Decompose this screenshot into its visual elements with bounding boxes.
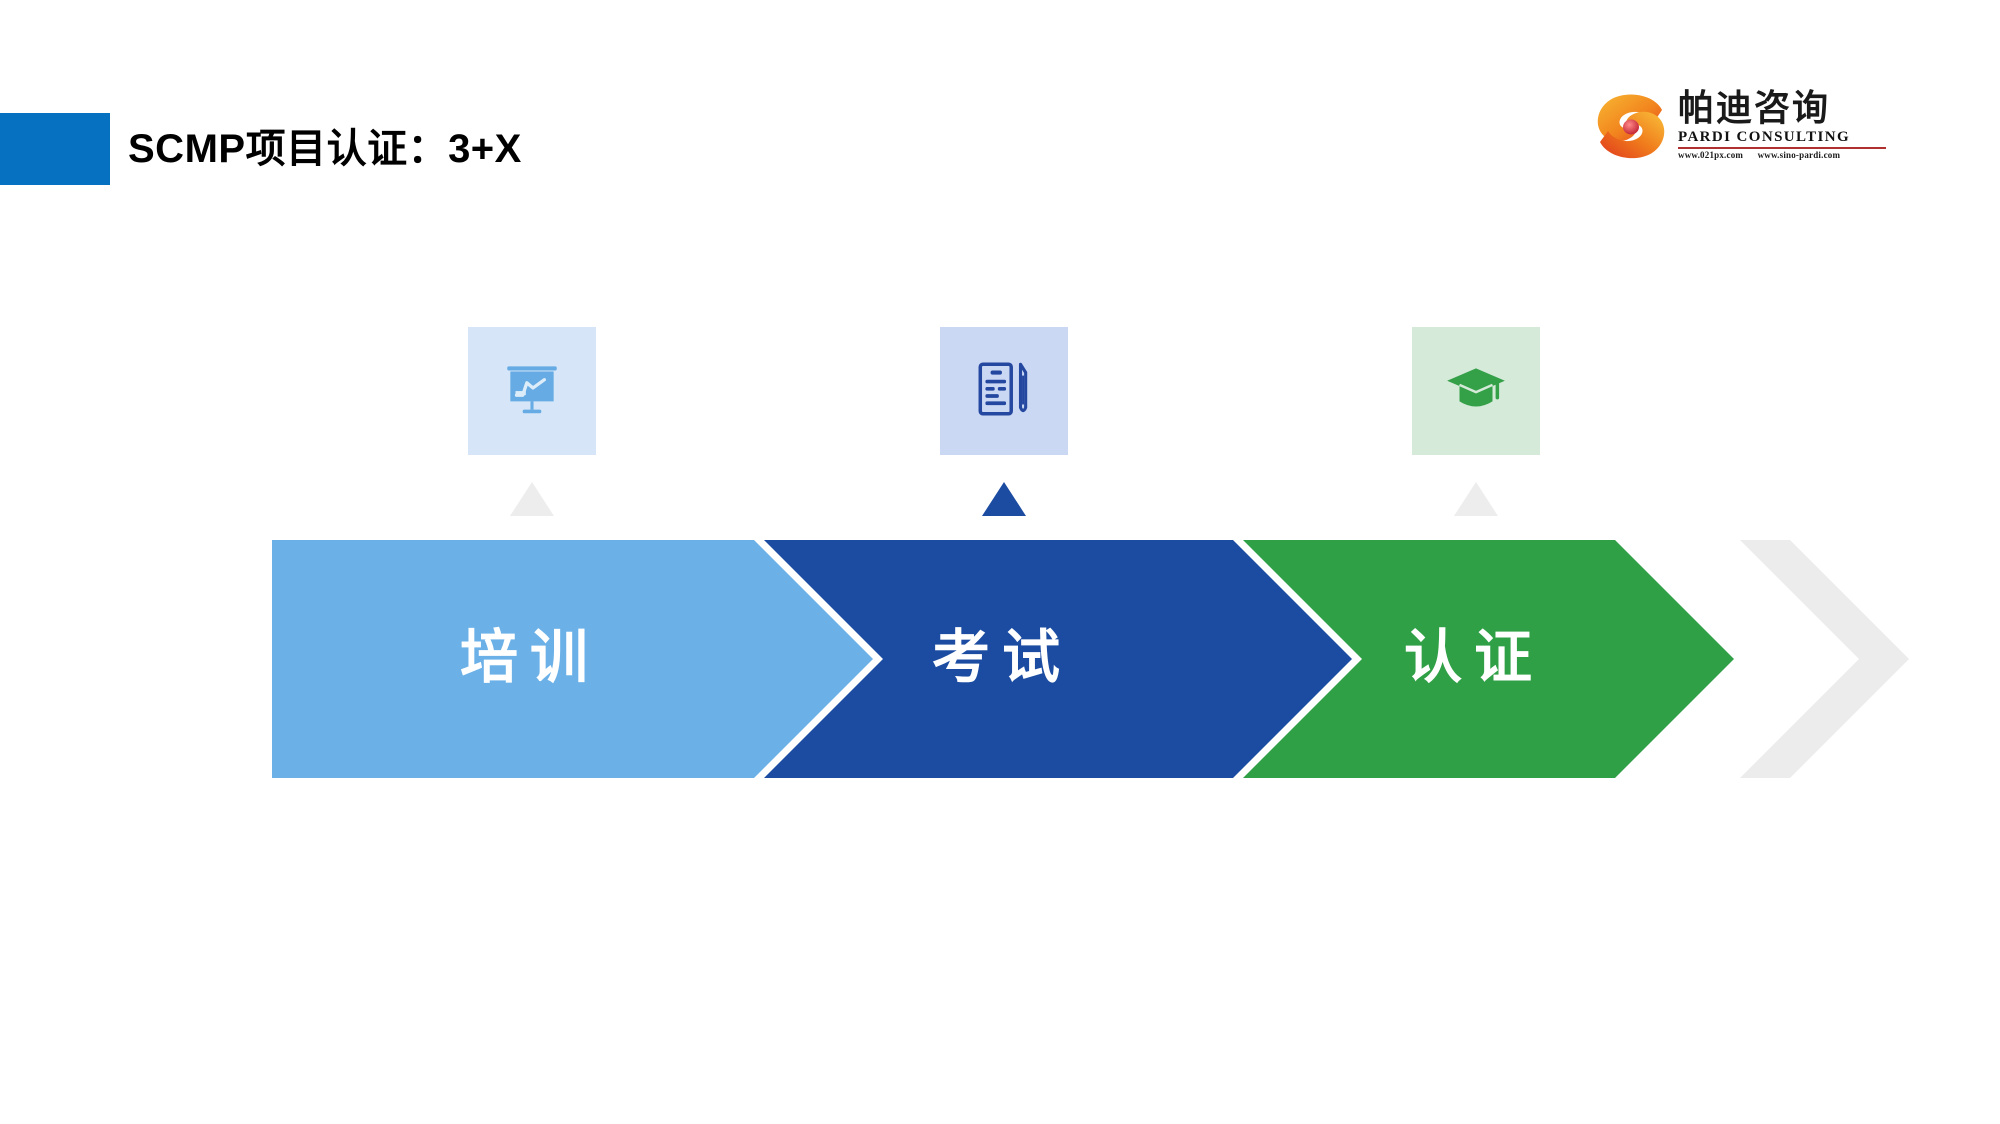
step-label-certification: 认证 bbox=[1364, 612, 1584, 704]
graduation-cap-icon bbox=[1443, 356, 1509, 427]
logo-urls: www.021px.com www.sino-pardi.com bbox=[1678, 150, 1890, 160]
presentation-board-icon bbox=[499, 356, 565, 427]
company-logo: 帕迪咨询 PARDI CONSULTING www.021px.com www.… bbox=[1592, 88, 1892, 170]
swirl-e-logo-icon bbox=[1592, 88, 1670, 166]
step-pointer-certification bbox=[1454, 482, 1498, 516]
page-title: SCMP项目认证：3+X bbox=[128, 118, 522, 180]
logo-divider bbox=[1678, 147, 1886, 149]
title-accent-bar bbox=[0, 113, 110, 185]
logo-wordmark: 帕迪咨询 PARDI CONSULTING www.021px.com www.… bbox=[1678, 88, 1890, 160]
step-icon-tile-training[interactable] bbox=[468, 327, 596, 455]
logo-url-secondary: www.sino-pardi.com bbox=[1758, 150, 1841, 160]
step-icon-tile-certification[interactable] bbox=[1412, 327, 1540, 455]
exam-paper-pencil-icon bbox=[971, 356, 1037, 427]
logo-company-en: PARDI CONSULTING bbox=[1678, 128, 1890, 146]
logo-company-cn: 帕迪咨询 bbox=[1678, 88, 1890, 128]
logo-url-primary: www.021px.com bbox=[1678, 150, 1743, 160]
step-icon-tile-exam[interactable] bbox=[940, 327, 1068, 455]
slide-canvas: SCMP项目认证：3+X bbox=[0, 0, 2000, 1124]
step-pointer-exam bbox=[982, 482, 1026, 516]
step-label-training: 培训 bbox=[420, 612, 640, 704]
continuation-chevron bbox=[1740, 540, 1909, 778]
step-label-exam: 考试 bbox=[892, 612, 1112, 704]
step-pointer-training bbox=[510, 482, 554, 516]
